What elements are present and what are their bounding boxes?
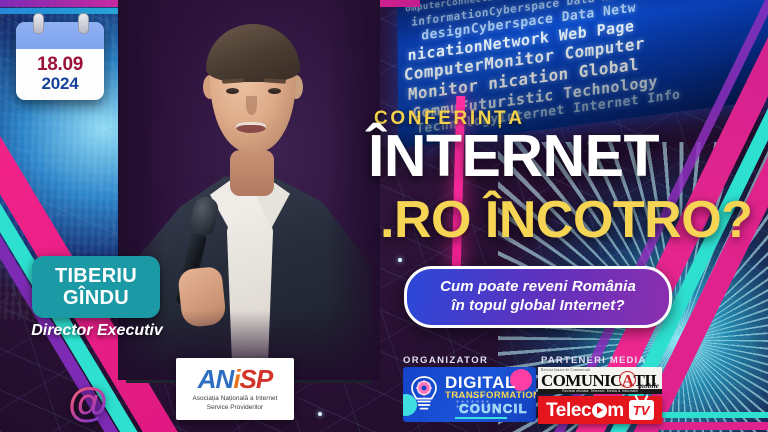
calendar-ring xyxy=(33,13,44,34)
comunicatii-strapline: Revista oficiala: Telecom, Media & Infor… xyxy=(538,389,662,394)
photo-eye-right xyxy=(268,88,281,94)
date-year: 2024 xyxy=(41,74,78,94)
title-line-1: ÎNTERNET xyxy=(368,128,659,184)
dtc-word-digital: DIGITAL xyxy=(445,374,516,391)
speaker-name-box: TIBERIU GÎNDU xyxy=(32,256,160,318)
photo-mouth xyxy=(236,122,266,133)
telecom-name-right: m xyxy=(607,400,624,421)
comunicatii-mobile-logo: Revista lunara de Comunicatii COMUNICAȚI… xyxy=(538,367,662,394)
comunicatii-accent-a: A xyxy=(622,372,634,389)
lightbulb-gear-icon xyxy=(410,375,438,413)
comunicatii-prefix: COMUNIC xyxy=(541,371,622,390)
dtc-word-transformation: TRANSFORMATION xyxy=(445,391,536,401)
date-badge: 18.09 2024 xyxy=(16,22,104,100)
anisp-an: AN xyxy=(198,364,234,394)
telecom-name-left: Telec xyxy=(546,400,591,421)
decorative-dot xyxy=(318,412,322,416)
calendar-body: 18.09 2024 xyxy=(16,49,104,100)
word-cloud-row: omputerConnection E-commerce xyxy=(405,0,569,15)
anisp-sp: SP xyxy=(240,364,273,394)
word-cloud-row: Monitor nication Global xyxy=(408,54,639,104)
subtitle-line-2: în topul global Internet? xyxy=(451,297,624,316)
conference-poster: omputerConnection E-commerce information… xyxy=(0,0,768,432)
bottom-stripe-teal xyxy=(660,412,768,418)
play-button-icon xyxy=(592,403,607,418)
antenna-icon xyxy=(636,395,647,401)
telecom-tv-logo: Telecm TV xyxy=(538,396,662,424)
calendar-ring xyxy=(78,13,89,34)
word-cloud-row: designCyberspace Data Netw xyxy=(421,0,636,43)
date-day-month: 18.09 xyxy=(37,55,83,74)
anisp-tagline: Asociația Națională a Internet Service P… xyxy=(193,395,278,412)
word-cloud-row: informationCyberspace Data Ne xyxy=(411,0,616,29)
telecom-wordmark: Telecm xyxy=(538,401,624,420)
dtc-underline xyxy=(455,417,507,420)
anisp-tagline-line-1: Asociația Națională a Internet xyxy=(193,395,278,404)
speaker-last-name: GÎNDU xyxy=(63,287,129,309)
anisp-wordmark: ANiSP xyxy=(198,366,272,392)
bottom-stripe-pink xyxy=(660,422,768,430)
photo-eye-left xyxy=(226,88,239,94)
speaker-first-name: TIBERIU xyxy=(55,265,137,287)
subtitle-bubble: Cum poate reveni România în topul global… xyxy=(404,266,672,328)
speaker-role: Director Executiv xyxy=(18,322,176,340)
anisp-tagline-line-2: Service Providerilor xyxy=(193,404,278,413)
title-line-2: .RO ÎNCOTRO? xyxy=(380,196,752,245)
dtc-word-council: COUNCIL xyxy=(459,401,528,416)
word-cloud-row: ComputerMonitor Computer xyxy=(404,33,645,84)
organizer-label: ORGANIZATOR xyxy=(403,355,488,366)
subtitle-line-1: Cum poate reveni România xyxy=(440,278,636,297)
photo-nose xyxy=(246,96,257,115)
calendar-header xyxy=(16,22,104,49)
media-partners-label: PARTENERI MEDIA xyxy=(541,355,646,366)
tv-badge-text: TV xyxy=(633,404,650,417)
tv-badge: TV xyxy=(629,400,654,420)
digital-transformation-council-logo: DIGITAL TRANSFORMATION COUNCIL xyxy=(403,367,536,422)
photo-neck xyxy=(230,150,274,196)
decorative-dot xyxy=(398,258,402,262)
word-cloud-row: nicationNetwork Web Page xyxy=(408,17,635,65)
at-symbol-logo: @ xyxy=(64,378,112,426)
anisp-logo: ANiSP Asociația Națională a Internet Ser… xyxy=(176,358,294,420)
